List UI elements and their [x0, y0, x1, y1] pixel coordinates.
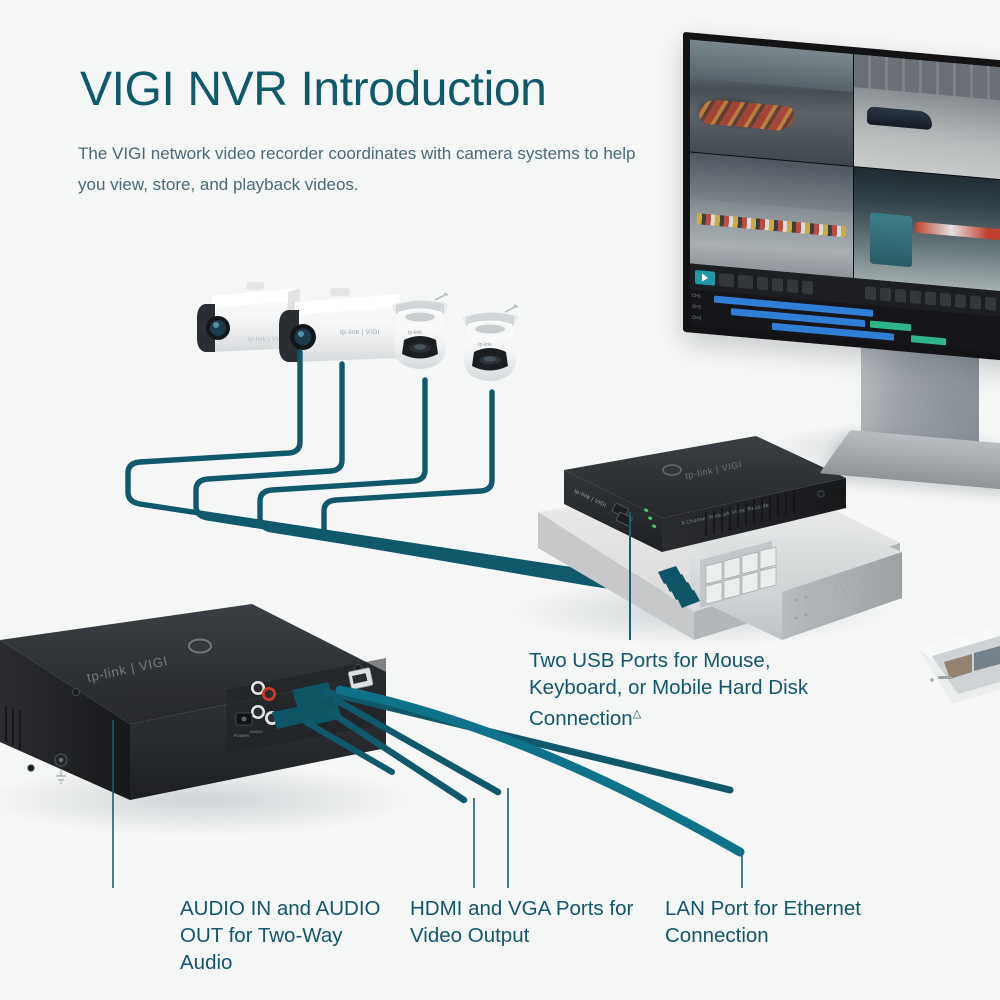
timeline-segment[interactable]: [870, 320, 911, 331]
page-title: VIGI NVR Introduction: [80, 62, 546, 117]
callout-lan-port: LAN Port for Ethernet Connection: [665, 895, 910, 949]
speed-icon[interactable]: [738, 274, 753, 288]
svg-text:POWER: POWER: [234, 733, 249, 738]
nvr-bottom: tp-link | VIGI AUDIO POWER: [0, 604, 386, 800]
svg-text:tp-link: tp-link: [408, 330, 422, 336]
timeline-row-label: CH1: [692, 293, 701, 299]
archive-icon[interactable]: [970, 295, 981, 309]
svg-text:AUDIO: AUDIO: [250, 729, 263, 734]
svg-text:tp-link | VIGI: tp-link | VIGI: [340, 329, 380, 336]
tag-icon[interactable]: [925, 291, 936, 305]
clock-icon[interactable]: [880, 287, 891, 301]
zoom-icon[interactable]: [985, 296, 996, 310]
export-icon[interactable]: [940, 292, 951, 306]
camera-view-1[interactable]: [690, 39, 853, 165]
timeline-row-label: CH4: [692, 326, 701, 332]
prev-frame-icon[interactable]: [757, 276, 768, 290]
volume-icon[interactable]: [802, 280, 813, 294]
play-icon[interactable]: [695, 270, 715, 286]
power-port: [236, 713, 252, 725]
filter-icon[interactable]: [895, 288, 906, 302]
stop-icon[interactable]: [719, 273, 734, 287]
monitor-bezel: CH1CH2CH3CH4: [683, 32, 1000, 362]
leader-usb: [629, 512, 631, 640]
timeline-segment[interactable]: [911, 335, 946, 345]
page-root: tp-link | VIGI tp-link | VIGI tp-link: [0, 0, 1000, 1000]
camera-turret-2: tp-link: [462, 305, 518, 381]
timeline-row-label: CH2: [692, 304, 701, 310]
next-frame-icon[interactable]: [772, 277, 783, 291]
callout-audio-ports: AUDIO IN and AUDIO OUT for Two-Way Audio: [180, 895, 390, 976]
svg-text:tp-link: tp-link: [478, 342, 492, 348]
monitor: CH1CH2CH3CH4: [683, 47, 1000, 377]
cut-icon[interactable]: [955, 294, 966, 308]
camera-view-2[interactable]: [854, 54, 1000, 180]
step-icon[interactable]: [787, 279, 798, 293]
camera-view-4[interactable]: [854, 167, 1000, 293]
timeline-segment[interactable]: [940, 348, 981, 354]
snapshot-icon[interactable]: [865, 286, 876, 300]
lock-icon[interactable]: [910, 290, 921, 304]
callout-video-ports: HDMI and VGA Ports for Video Output: [410, 895, 645, 949]
smartphone: [918, 624, 1000, 704]
camera-turret-1: tp-link: [392, 293, 448, 369]
callout-usb-text: Two USB Ports for Mouse, Keyboard, or Mo…: [529, 649, 808, 730]
monitor-screen[interactable]: CH1CH2CH3CH4: [690, 39, 1000, 354]
live-view-grid: [690, 39, 1000, 292]
footnote-marker: △: [633, 708, 641, 720]
page-subtitle: The VIGI network video recorder coordina…: [78, 138, 638, 200]
callout-usb-ports: Two USB Ports for Mouse, Keyboard, or Mo…: [529, 647, 829, 732]
camera-view-3[interactable]: [690, 152, 853, 278]
timeline-row-label: CH3: [692, 315, 701, 321]
